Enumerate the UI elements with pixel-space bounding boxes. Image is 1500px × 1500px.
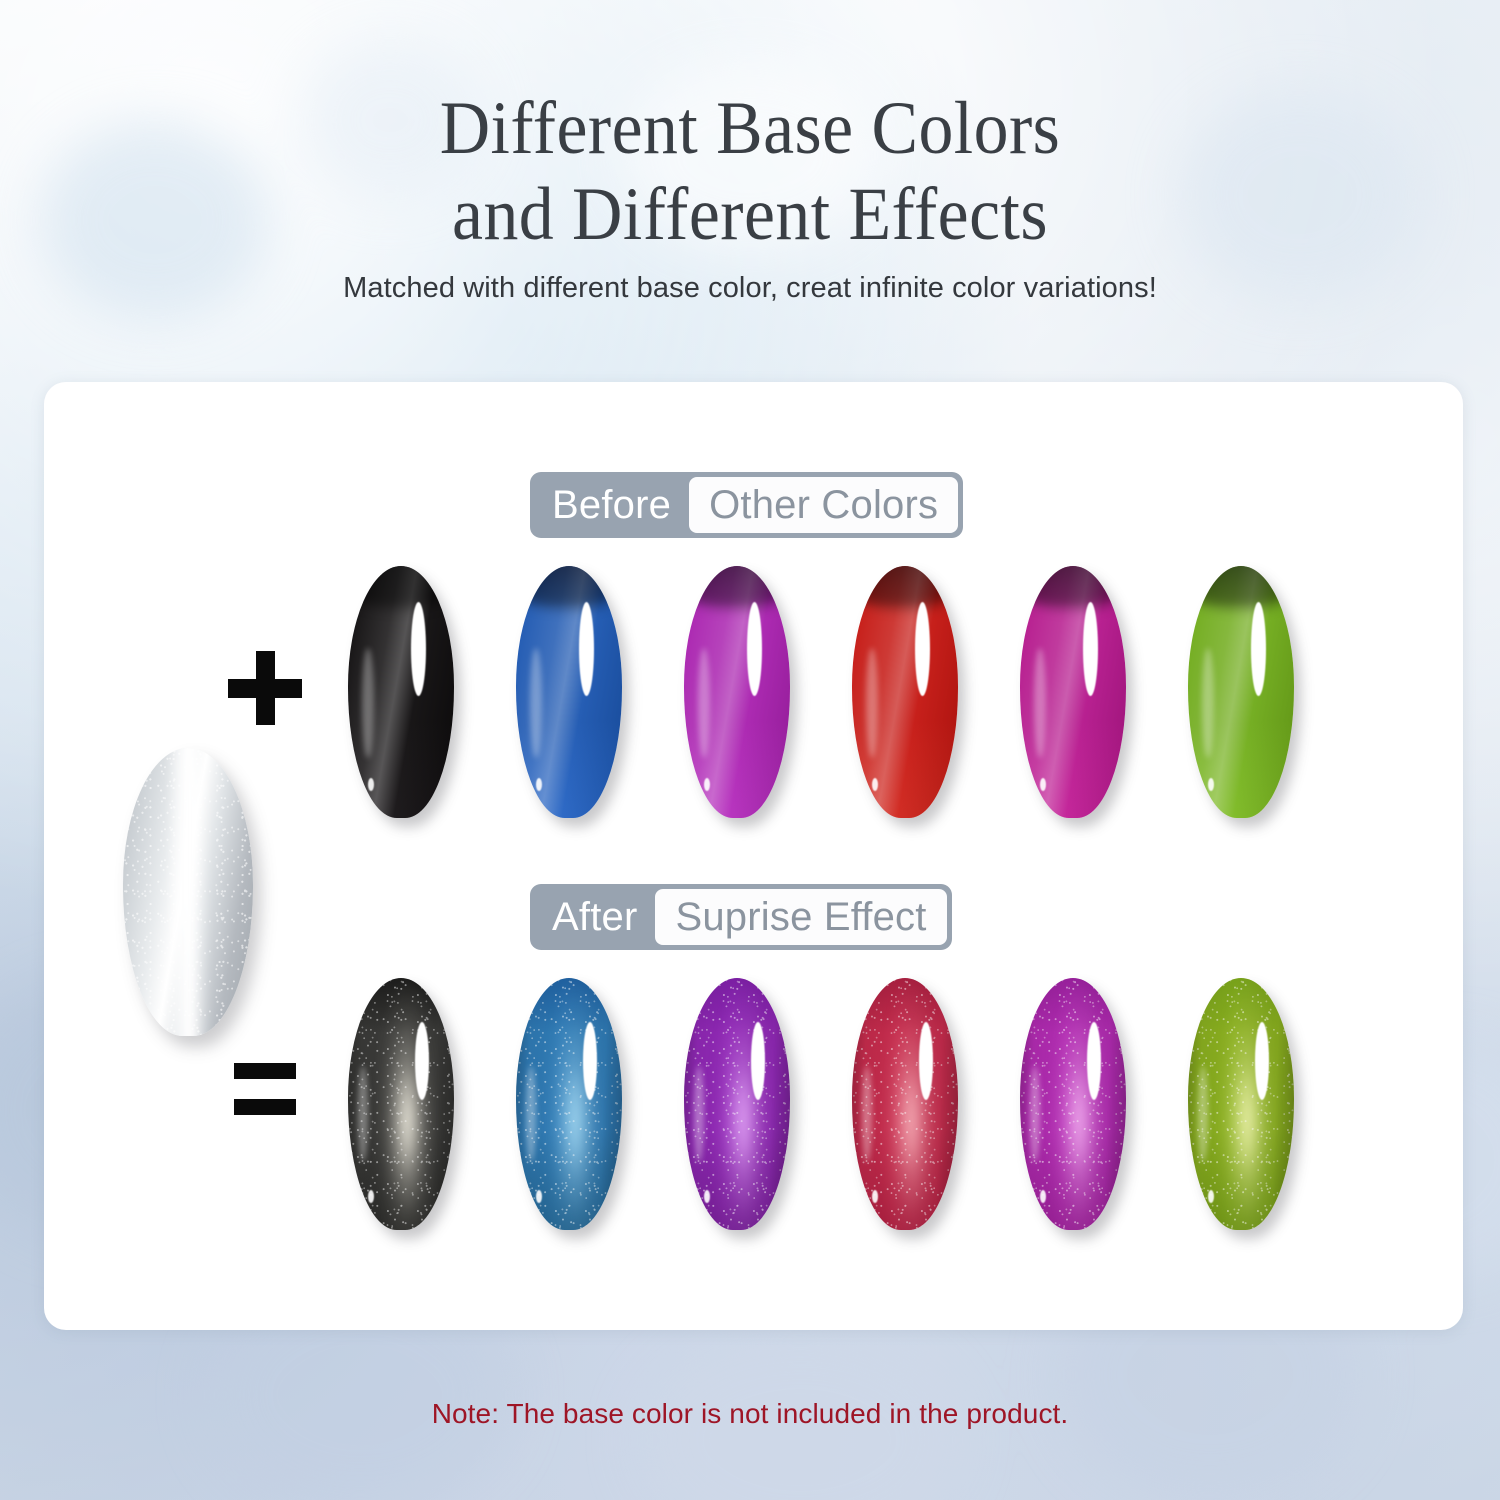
swatch-gloss-highlight xyxy=(751,1022,765,1100)
swatch-side-gloss xyxy=(526,1066,536,1162)
swatch-tip-glint xyxy=(872,1190,878,1203)
page-subtitle: Matched with different base color, creat… xyxy=(0,272,1500,305)
swatch-side-gloss xyxy=(362,648,374,758)
disclaimer-note: Note: The base color is not included in … xyxy=(0,1398,1500,1430)
swatch-side-gloss xyxy=(1198,1066,1208,1162)
swatch-tip-glint xyxy=(1208,778,1214,791)
swatch-gloss-highlight xyxy=(1255,1022,1269,1100)
swatch-before-red xyxy=(852,566,958,818)
swatch-before-purple xyxy=(684,566,790,818)
swatch-tip-glint xyxy=(1208,1190,1214,1203)
swatch-gloss-highlight xyxy=(579,602,594,696)
page-heading: Different Base Colors and Different Effe… xyxy=(0,86,1500,258)
swatch-tip-glint xyxy=(536,778,542,791)
swatch-tip-glint xyxy=(872,778,878,791)
swatch-gloss-highlight xyxy=(1251,602,1266,696)
swatch-gloss-highlight xyxy=(415,1022,429,1100)
swatch-gloss-highlight xyxy=(915,602,930,696)
swatch-gloss-highlight xyxy=(919,1022,933,1100)
swatch-after-crimson-cat-eye xyxy=(852,978,958,1230)
swatch-tip-glint xyxy=(368,1190,374,1203)
badge-after-value: Suprise Effect xyxy=(655,889,946,945)
swatch-before-magenta-pink xyxy=(1020,566,1126,818)
swatch-gloss-highlight xyxy=(583,1022,597,1100)
swatch-before-lime-green xyxy=(1188,566,1294,818)
swatch-tip-glint xyxy=(704,778,710,791)
equals-icon xyxy=(234,1063,296,1115)
swatch-side-gloss xyxy=(530,648,542,758)
swatch-cuticle-shade xyxy=(516,566,622,608)
page-title-line-1: Different Base Colors xyxy=(53,86,1448,172)
page-title-line-2: and Different Effects xyxy=(53,172,1448,258)
swatch-cuticle-shade xyxy=(1020,566,1126,608)
swatch-before-black xyxy=(348,566,454,818)
swatch-cuticle-shade xyxy=(684,566,790,608)
swatch-side-gloss xyxy=(1202,648,1214,758)
badge-before-value: Other Colors xyxy=(689,477,958,533)
swatch-tip-glint xyxy=(1040,778,1046,791)
swatch-side-gloss xyxy=(1034,648,1046,758)
swatch-tip-glint xyxy=(1040,1190,1046,1203)
base-swatch-highlight xyxy=(167,748,211,1036)
swatch-cuticle-shade xyxy=(852,566,958,608)
plus-icon xyxy=(228,651,302,725)
swatch-gloss-highlight xyxy=(411,602,426,696)
swatch-cuticle-shade xyxy=(348,566,454,608)
swatch-after-magenta-cat-eye xyxy=(1020,978,1126,1230)
product-infographic: Different Base Colors and Different Effe… xyxy=(0,0,1500,1500)
swatch-after-gunmetal-cat-eye xyxy=(348,978,454,1230)
swatch-side-gloss xyxy=(862,1066,872,1162)
swatch-gloss-highlight xyxy=(1087,1022,1101,1100)
swatch-after-violet-cat-eye xyxy=(684,978,790,1230)
swatch-side-gloss xyxy=(1030,1066,1040,1162)
swatch-cuticle-shade xyxy=(1188,566,1294,608)
badge-after: After Suprise Effect xyxy=(530,884,952,950)
swatch-gloss-highlight xyxy=(747,602,762,696)
badge-before-label: Before xyxy=(530,472,689,538)
swatch-tip-glint xyxy=(368,778,374,791)
badge-after-label: After xyxy=(530,884,655,950)
swatch-side-gloss xyxy=(866,648,878,758)
swatch-gloss-highlight xyxy=(1083,602,1098,696)
swatch-side-gloss xyxy=(694,1066,704,1162)
swatch-after-olive-cat-eye xyxy=(1188,978,1294,1230)
swatch-tip-glint xyxy=(536,1190,542,1203)
badge-before: Before Other Colors xyxy=(530,472,963,538)
swatch-after-blue-cat-eye xyxy=(516,978,622,1230)
swatch-before-royal-blue xyxy=(516,566,622,818)
swatch-side-gloss xyxy=(698,648,710,758)
base-swatch-silver xyxy=(123,748,253,1036)
swatch-tip-glint xyxy=(704,1190,710,1203)
swatch-side-gloss xyxy=(358,1066,368,1162)
